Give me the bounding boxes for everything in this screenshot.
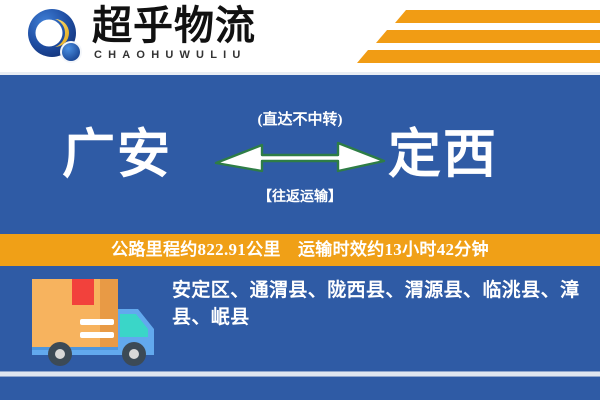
distance-duration-band: 公路里程约822.91公里 运输时效约13小时42分钟	[0, 234, 600, 266]
destination-list: 安定区、通渭县、陇西县、渭源县、临洮县、漳县、岷县	[172, 277, 584, 331]
direct-route-note: (直达不中转)	[225, 111, 375, 129]
brand-name-cn: 超乎物流	[92, 4, 282, 48]
delivery-truck-icon	[28, 275, 168, 370]
double-headed-arrow-icon	[210, 137, 390, 177]
distance-duration-text: 公路里程约822.91公里 运输时效约13小时42分钟	[111, 240, 489, 260]
circle-crescent-logo-icon	[26, 8, 84, 66]
footer-divider	[0, 371, 600, 377]
roundtrip-note: 【往返运输】	[225, 189, 375, 206]
origin-city: 广安	[62, 125, 172, 185]
stripe-3	[357, 50, 600, 63]
destination-city: 定西	[388, 125, 498, 185]
header-bar: 超乎物流 CHAOHUWULIU	[0, 0, 600, 72]
route-section: 广安 定西 (直达不中转) 【往返运输】	[0, 75, 600, 234]
stripe-2	[376, 30, 600, 43]
route-middle: (直达不中转) 【往返运输】	[225, 111, 375, 221]
decorative-stripes	[300, 6, 600, 66]
brand-name-en: CHAOHUWULIU	[92, 49, 282, 62]
coverage-section: 安定区、通渭县、陇西县、渭源县、临洮县、漳县、岷县	[0, 266, 600, 400]
logistics-route-banner: 超乎物流 CHAOHUWULIU 广安 定西 (直达不中转) 【往返运输】 公路…	[0, 0, 600, 400]
brand-text-block: 超乎物流 CHAOHUWULIU	[92, 4, 282, 62]
brand-logo[interactable]: 超乎物流 CHAOHUWULIU	[26, 6, 276, 68]
stripe-1	[395, 10, 600, 23]
